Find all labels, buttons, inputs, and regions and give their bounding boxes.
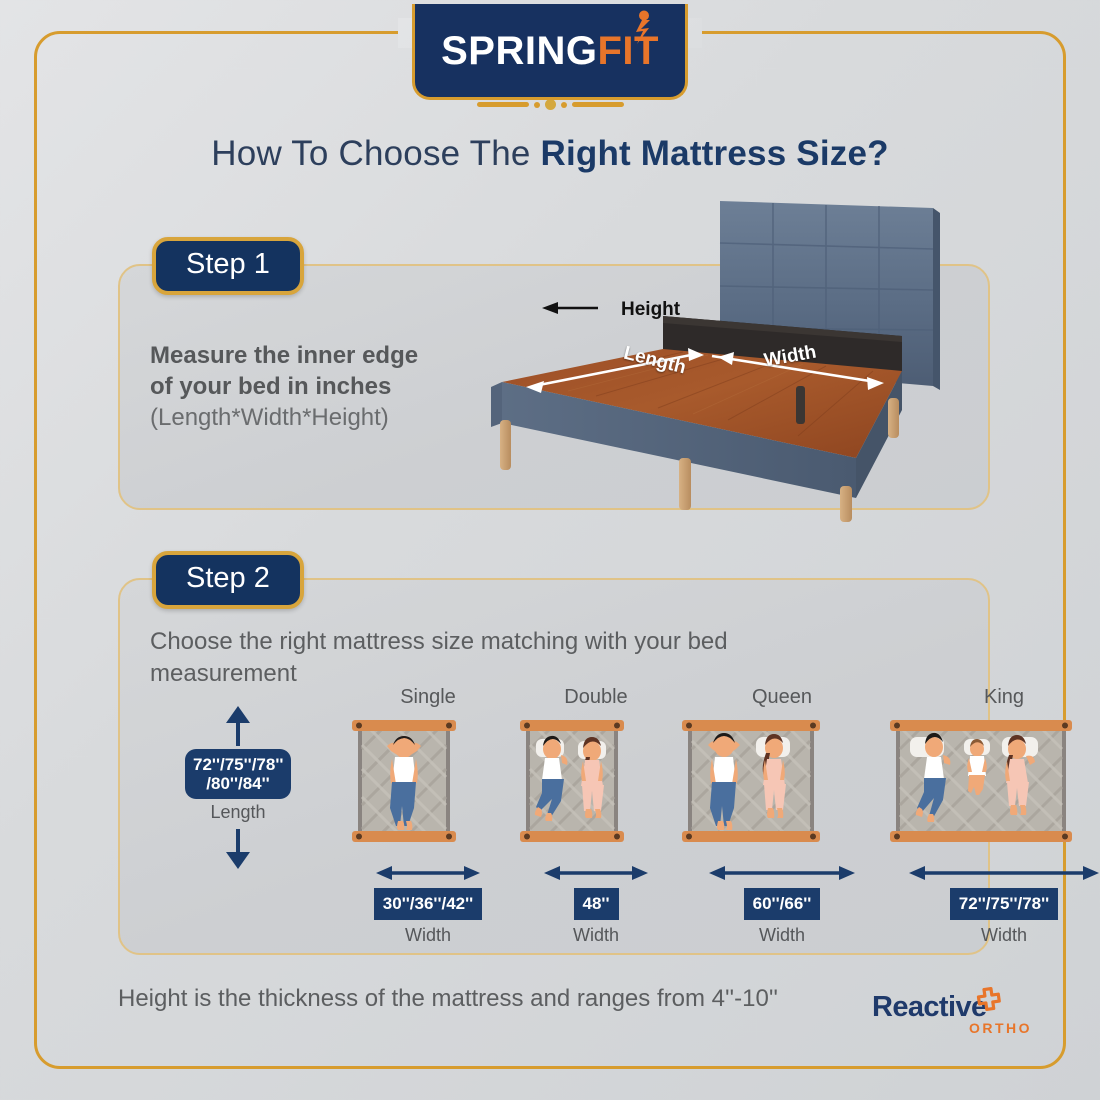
- step-2-instructions: Choose the right mattress size matching …: [150, 626, 870, 691]
- width-arrow-queen-icon: [709, 865, 855, 881]
- width-badge-single: 30''/36''/42'': [374, 888, 482, 920]
- width-badge-queen: 60''/66'': [744, 888, 821, 920]
- size-column-double[interactable]: Double: [516, 686, 676, 946]
- length-value-line-1: 72''/75''/78'': [193, 755, 283, 774]
- running-person-icon: [627, 10, 653, 46]
- bed-illustration-svg: [478, 186, 948, 526]
- page-title: How To Choose The Right Mattress Size?: [0, 134, 1100, 174]
- width-caption-single: Width: [348, 925, 508, 946]
- width-caption-queen: Width: [678, 925, 886, 946]
- brand-logo: SPRING FIT: [441, 31, 659, 71]
- width-arrow-single-icon: [376, 865, 480, 881]
- divider-dot-center: [545, 99, 556, 110]
- medical-cross-icon: [976, 987, 1002, 1013]
- size-title-king: King: [886, 686, 1100, 709]
- mattress-illustration-queen: [678, 715, 886, 852]
- divider-bar-left: [477, 102, 529, 107]
- width-badge-double: 48'': [574, 888, 619, 920]
- page-title-plain: How To Choose The: [211, 134, 540, 173]
- step-1-line-2: of your bed in inches: [150, 372, 490, 403]
- brand-logo-fit: FIT: [597, 31, 658, 71]
- brand-logo-spring: SPRING: [441, 31, 597, 71]
- width-arrow-double-icon: [544, 865, 648, 881]
- step-1-line-1: Measure the inner edge: [150, 341, 490, 372]
- size-column-single[interactable]: Single: [348, 686, 508, 946]
- size-column-queen[interactable]: Queen: [678, 686, 886, 946]
- length-arrow-up-icon: [225, 706, 251, 746]
- bed-height-label: Height: [621, 299, 680, 321]
- height-pointer: [542, 302, 598, 314]
- divider-dot: [561, 102, 567, 108]
- page-title-emphasis: Right Mattress Size?: [540, 134, 888, 173]
- length-axis-group: 72''/75''/78'' /80''/84'' Length: [178, 706, 298, 869]
- bed-diagram: Length Width Height: [478, 186, 948, 526]
- footer-note: Height is the thickness of the mattress …: [118, 985, 778, 1013]
- partner-name: Reactive: [872, 993, 1032, 1022]
- size-title-queen: Queen: [678, 686, 886, 709]
- brand-logo-plate: SPRING FIT: [412, 4, 688, 100]
- width-caption-double: Width: [516, 925, 676, 946]
- mattress-illustration-double: [516, 715, 676, 852]
- width-arrow-king-icon: [909, 865, 1099, 881]
- length-arrow-down-icon: [225, 829, 251, 869]
- size-title-single: Single: [348, 686, 508, 709]
- frame-dot-divider: [0, 99, 1100, 110]
- length-value-line-2: /80''/84'': [193, 774, 283, 793]
- partner-logo-reactive-ortho: Reactive ORTHO: [872, 993, 1032, 1041]
- length-value-badge: 72''/75''/78'' /80''/84'': [185, 749, 291, 799]
- size-column-king[interactable]: King: [886, 686, 1100, 946]
- step-1-badge: Step 1: [152, 237, 304, 295]
- width-caption-king: Width: [886, 925, 1100, 946]
- mattress-illustration-king: [886, 715, 1100, 852]
- step-1-instructions: Measure the inner edge of your bed in in…: [150, 341, 490, 434]
- mattress-illustration-single: [348, 715, 508, 852]
- size-title-double: Double: [516, 686, 676, 709]
- step-1-line-3: (Length*Width*Height): [150, 402, 490, 433]
- divider-dot: [534, 102, 540, 108]
- step-2-badge: Step 2: [152, 551, 304, 609]
- width-badge-king: 72''/75''/78'': [950, 888, 1058, 920]
- mattress-size-comparison: 72''/75''/78'' /80''/84'' Length Single: [118, 686, 990, 936]
- divider-bar-right: [572, 102, 624, 107]
- length-caption: Length: [178, 802, 298, 823]
